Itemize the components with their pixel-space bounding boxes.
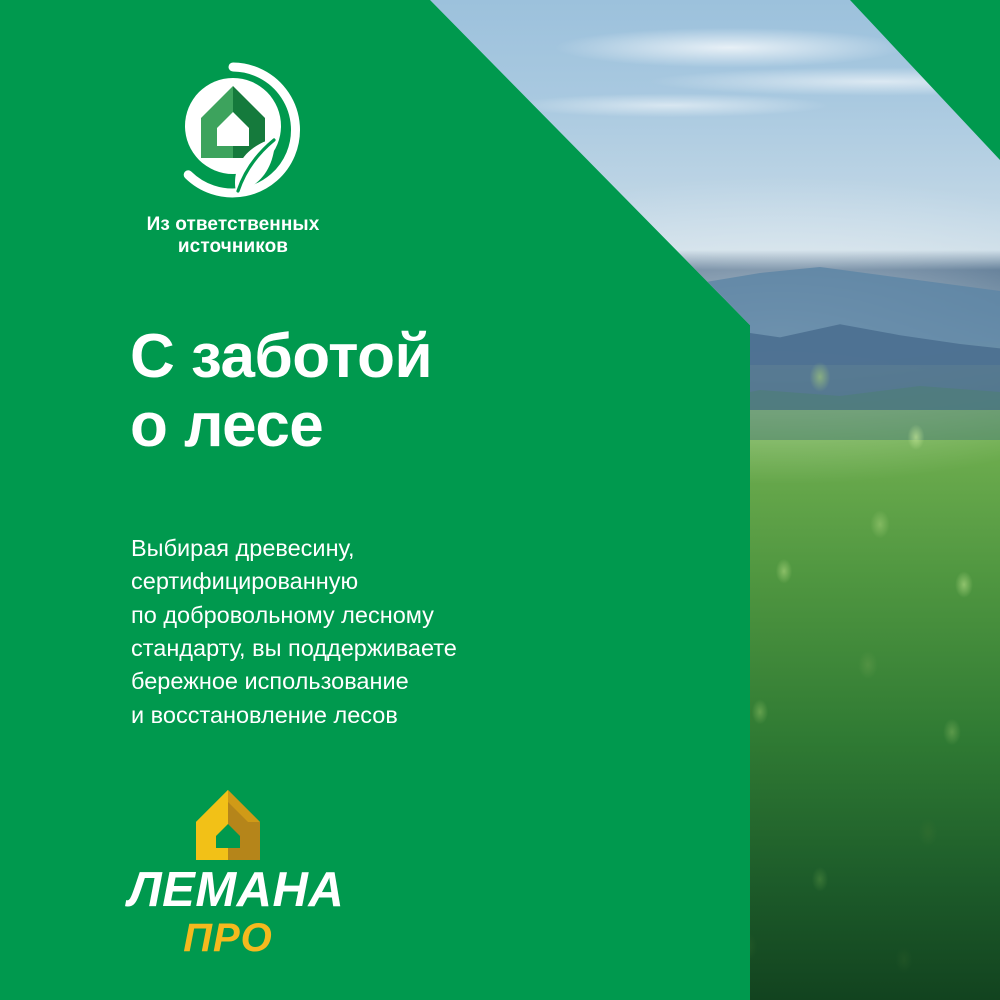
lemana-pro-logo: ЛЕМАНА ПРО xyxy=(128,788,328,959)
lemana-house-icon xyxy=(192,788,264,862)
content-column: Из ответственных источников С заботой о … xyxy=(0,0,1000,1000)
brand-name-lemana: ЛЕМАНА xyxy=(128,866,328,915)
lemana-pro-wordmark: ЛЕМАНА ПРО xyxy=(128,866,328,959)
poster-canvas: Из ответственных источников С заботой о … xyxy=(0,0,1000,1000)
body-paragraph: Выбирая древесину, сертифицированную по … xyxy=(131,532,457,732)
page-title: С заботой о лесе xyxy=(130,322,432,461)
responsible-sources-caption: Из ответственных источников xyxy=(128,214,338,259)
brand-name-pro: ПРО xyxy=(128,917,328,959)
responsible-sources-badge: Из ответственных источников xyxy=(128,60,338,259)
responsible-sources-seal-icon xyxy=(163,60,303,200)
